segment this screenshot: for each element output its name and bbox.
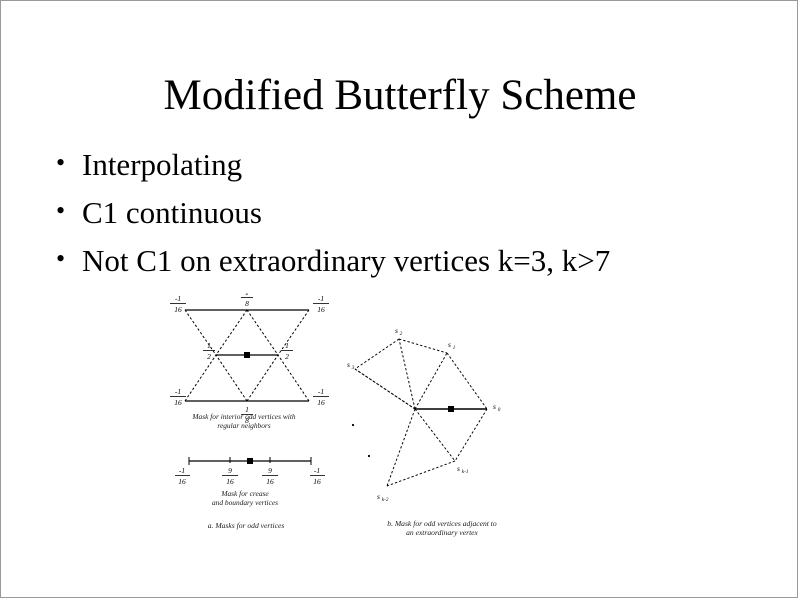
list-item-label: Not C1 on extraordinary vertices k=3, k>… bbox=[82, 245, 610, 276]
svg-text:-1: -1 bbox=[175, 387, 181, 396]
weight-top-apex: 1 8 bbox=[241, 293, 253, 308]
svg-text:16: 16 bbox=[178, 477, 186, 486]
vertex-label-s0: s 0 bbox=[493, 402, 501, 413]
svg-text:16: 16 bbox=[313, 477, 321, 486]
svg-text:16: 16 bbox=[226, 477, 234, 486]
bullet-marker-icon: • bbox=[56, 149, 82, 177]
stray-dot bbox=[352, 424, 354, 426]
bullet-list: • Interpolating • C1 continuous • Not C1… bbox=[56, 149, 776, 293]
weight-top-left: -1 16 bbox=[170, 294, 186, 314]
weight-bottom-left: -1 16 bbox=[170, 387, 186, 407]
list-item: • C1 continuous bbox=[56, 197, 776, 228]
crease-mask-caption: Mask for crease and boundary vertices bbox=[169, 489, 321, 508]
subfigure-a-caption: a. Masks for odd vertices bbox=[171, 521, 321, 530]
svg-text:9: 9 bbox=[228, 466, 232, 475]
svg-text:-1: -1 bbox=[175, 294, 181, 303]
interior-mask-diagram: -1 16 1 8 -1 16 1 2 bbox=[151, 293, 351, 508]
vertex-label-sk2: s k-2 bbox=[377, 492, 389, 503]
weight-mid-right: 1 2 bbox=[281, 341, 293, 361]
svg-text:8: 8 bbox=[245, 299, 249, 308]
svg-text:-1: -1 bbox=[318, 294, 324, 303]
svg-text:9: 9 bbox=[268, 466, 272, 475]
svg-text:16: 16 bbox=[174, 305, 182, 314]
list-item-label: Interpolating bbox=[82, 149, 242, 180]
odd-vertex-dot bbox=[448, 406, 454, 412]
bullet-marker-icon: • bbox=[56, 197, 82, 225]
vertex-label-s1: s 1 bbox=[448, 340, 456, 351]
svg-text:16: 16 bbox=[266, 477, 274, 486]
svg-text:2: 2 bbox=[285, 352, 289, 361]
crease-mask-diagram: -1 16 9 16 9 16 -1 16 bbox=[175, 457, 325, 486]
slide-canvas: Modified Butterfly Scheme • Interpolatin… bbox=[0, 0, 798, 598]
vertex-label-s3: s 3 bbox=[347, 360, 355, 371]
extraordinary-vertex-diagram: s 2 s 1 s 3 s 0 s k-1 s k-2 bbox=[347, 301, 557, 521]
list-item-label: C1 continuous bbox=[82, 197, 262, 228]
vertex-label-sk1: s k-1 bbox=[457, 464, 469, 475]
svg-text:16: 16 bbox=[317, 305, 325, 314]
svg-text:-1: -1 bbox=[318, 387, 324, 396]
stray-dot bbox=[368, 455, 370, 457]
svg-text:1: 1 bbox=[207, 341, 211, 350]
svg-text:1: 1 bbox=[245, 293, 249, 297]
page-title: Modified Butterfly Scheme bbox=[1, 73, 799, 118]
figure-butterfly-masks: -1 16 1 8 -1 16 1 2 bbox=[151, 293, 571, 555]
svg-text:-1: -1 bbox=[314, 466, 320, 475]
svg-text:1: 1 bbox=[285, 341, 289, 350]
weight-top-right: -1 16 bbox=[313, 294, 329, 314]
svg-text:16: 16 bbox=[174, 398, 182, 407]
list-item: • Interpolating bbox=[56, 149, 776, 180]
odd-vertex-dot bbox=[244, 352, 250, 358]
svg-text:16: 16 bbox=[317, 398, 325, 407]
list-item: • Not C1 on extraordinary vertices k=3, … bbox=[56, 245, 776, 276]
bullet-marker-icon: • bbox=[56, 245, 82, 273]
vertex-label-s2: s 2 bbox=[395, 326, 403, 337]
weight-bottom-right: -1 16 bbox=[313, 387, 329, 407]
svg-text:-1: -1 bbox=[179, 466, 185, 475]
interior-mask-caption: Mask for interior odd vertices with regu… bbox=[159, 412, 329, 431]
subfigure-b-caption: b. Mask for odd vertices adjacent to an … bbox=[347, 519, 537, 538]
svg-text:2: 2 bbox=[207, 352, 211, 361]
